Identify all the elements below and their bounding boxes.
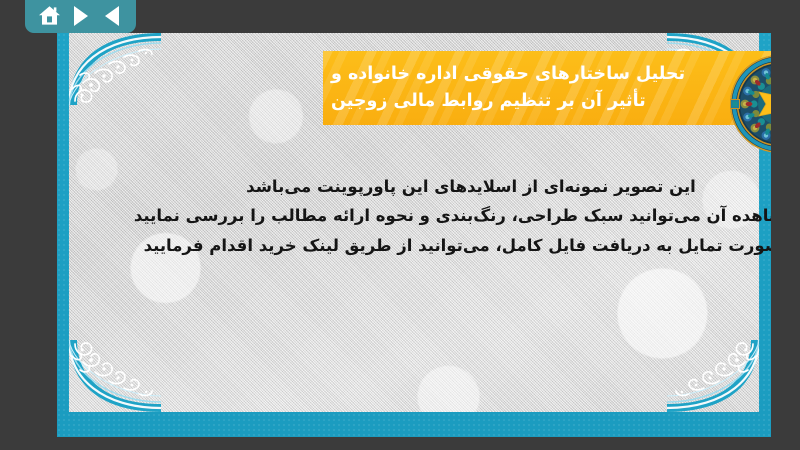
body-line-3: در صورت تمایل به دریافت فایل کامل، می‌تو… (126, 231, 771, 260)
triangle-right-icon (74, 6, 88, 26)
triangle-left-icon (105, 6, 119, 26)
next-slide-button[interactable] (69, 4, 93, 28)
slide-frame: تحلیل ساختارهای حقوقی اداره خانواده و تأ… (57, 33, 771, 437)
home-icon (38, 5, 61, 26)
slide-title-line-1: تحلیل ساختارهای حقوقی اداره خانواده و (331, 61, 685, 88)
body-line-1: این تصویر نمونه‌ای از اسلایدهای این پاور… (126, 172, 771, 201)
slide-viewer-stage: تحلیل ساختارهای حقوقی اداره خانواده و تأ… (0, 0, 800, 450)
arabesque-corner-ornament-top-left (69, 33, 161, 105)
title-bar-gold-panel: تحلیل ساختارهای حقوقی اداره خانواده و تأ… (323, 51, 771, 125)
arabesque-corner-ornament-bottom-left (69, 340, 161, 412)
previous-slide-button[interactable] (100, 4, 124, 28)
slide-title-bar: تحلیل ساختارهای حقوقی اداره خانواده و تأ… (323, 51, 771, 125)
home-button[interactable] (38, 4, 62, 28)
persian-mandala-medallion (729, 54, 771, 154)
arabesque-corner-ornament-bottom-right (667, 340, 759, 412)
body-line-2: با مشاهده آن می‌توانید سبک طراحی، رنگ‌بن… (126, 201, 771, 230)
slide-body-text: این تصویر نمونه‌ای از اسلایدهای این پاور… (126, 172, 771, 260)
slide-title-line-2: تأثیر آن بر تنظیم روابط مالی زوجین (331, 88, 646, 115)
slide-navigation-bar (25, 0, 136, 33)
